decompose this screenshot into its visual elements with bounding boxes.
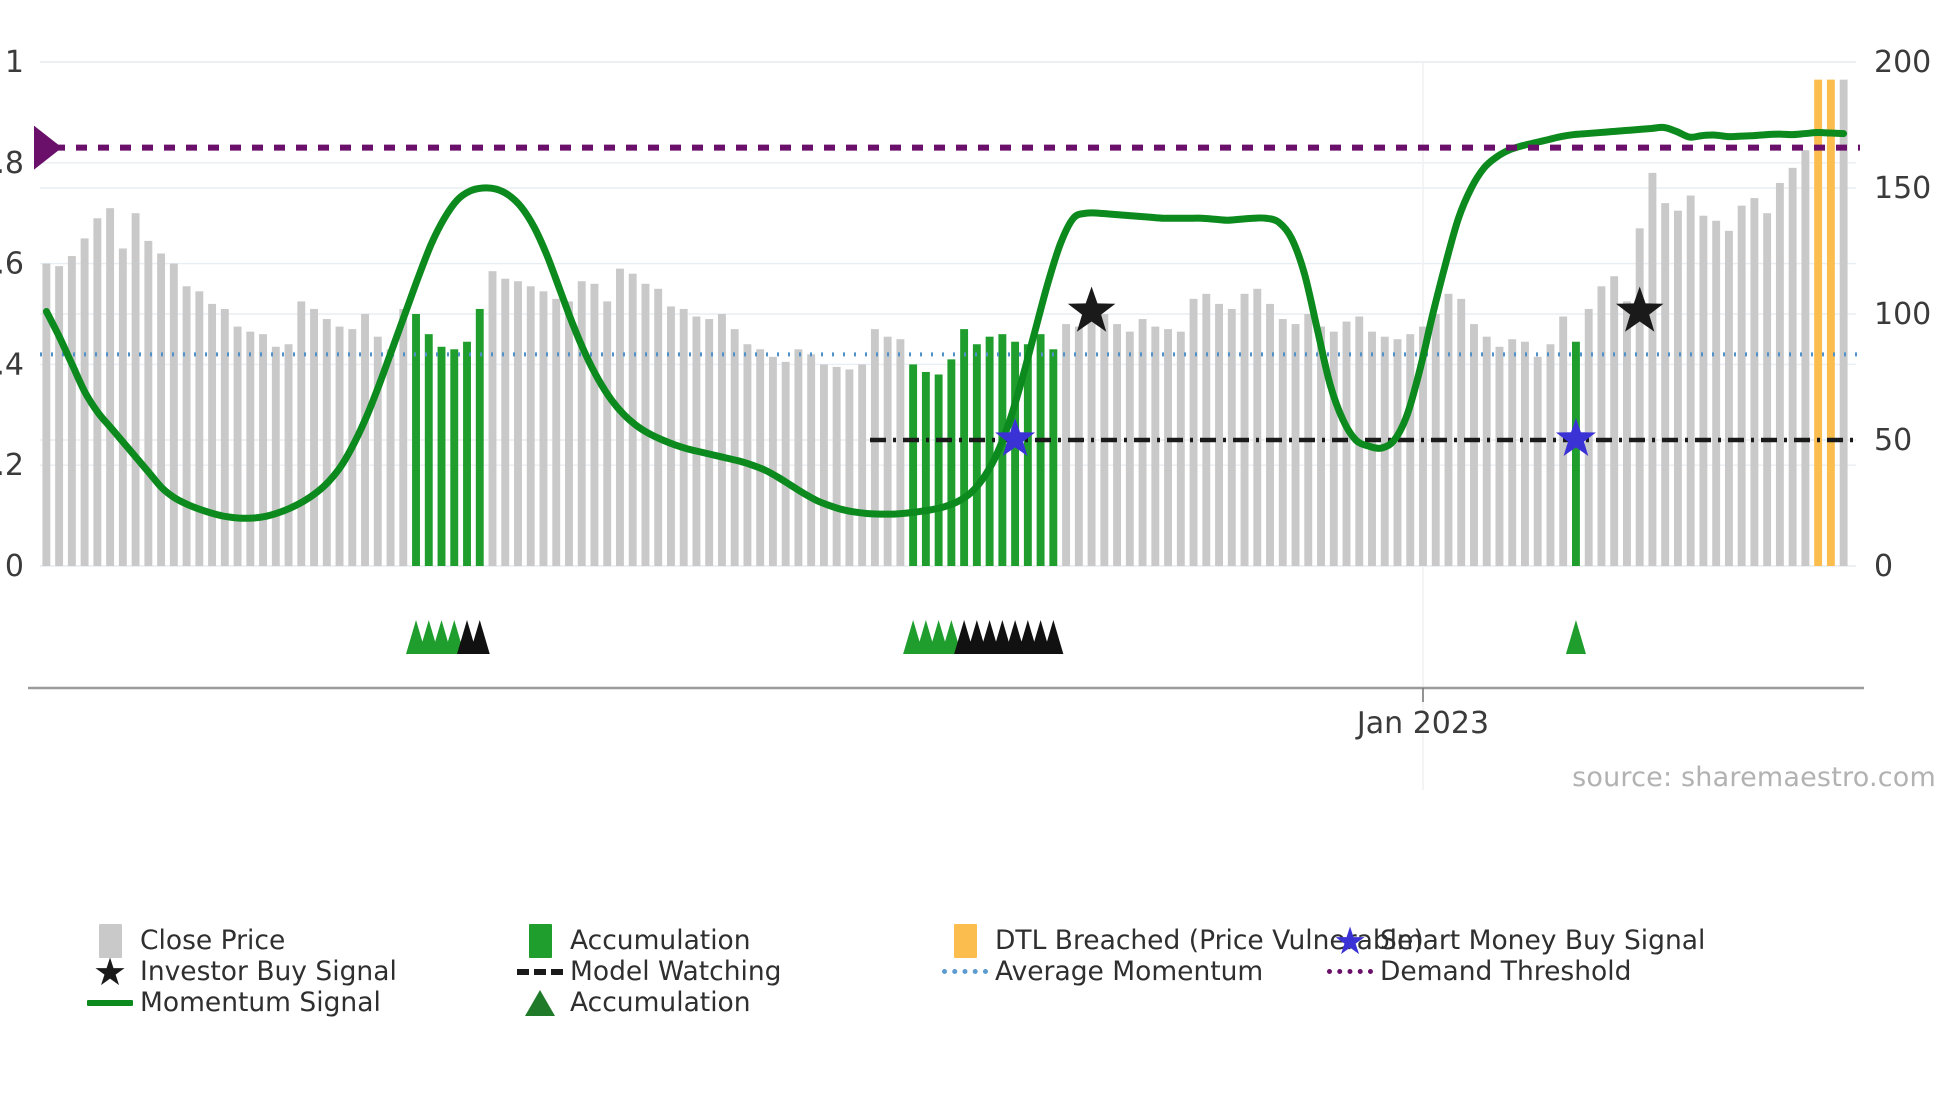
legend-item-accumulation-bar[interactable]: Accumulation (510, 925, 751, 956)
bar-close-price (1801, 150, 1809, 566)
bar-accumulation (425, 334, 433, 566)
bar-close-price (1661, 203, 1669, 566)
bar-accumulation (412, 314, 420, 566)
bar-close-price (1687, 196, 1695, 566)
bar-accumulation (1011, 342, 1019, 566)
legend-label: Accumulation (570, 987, 751, 1018)
bar-accumulation (960, 329, 968, 566)
bar-close-price (1343, 322, 1351, 566)
accumulation-triangle-marker (1043, 620, 1063, 654)
legend-item-momentum-signal[interactable]: Momentum Signal (80, 987, 381, 1018)
bar-close-price (540, 291, 548, 566)
bar-close-price (603, 301, 611, 566)
bar-close-price (782, 362, 790, 566)
bar-close-price (55, 266, 63, 566)
bar-close-price (1253, 289, 1261, 566)
bar-close-price (272, 347, 280, 566)
legend-label: Model Watching (570, 956, 781, 987)
bar-accumulation (438, 347, 446, 566)
bar-close-price (1190, 299, 1198, 566)
chart-legend: Close PriceAccumulationDTL Breached (Pri… (80, 925, 1940, 1018)
bar-close-price (489, 271, 497, 566)
bar-close-price (845, 369, 853, 566)
bar-close-price (68, 256, 76, 566)
bar-close-price (1126, 332, 1134, 566)
legend-row: ★Investor Buy SignalModel WatchingAverag… (80, 956, 1940, 987)
legend-swatch-star-icon: ★ (1333, 922, 1367, 960)
bar-dtl-breached (1814, 80, 1822, 566)
legend-swatch-line-icon (87, 1000, 133, 1006)
bar-close-price (1457, 299, 1465, 566)
bar-accumulation (909, 364, 917, 566)
bar-close-price (259, 334, 267, 566)
bar-close-price (1547, 344, 1555, 566)
legend-item-demand-threshold[interactable]: Demand Threshold (1320, 956, 1631, 987)
bar-close-price (1330, 332, 1338, 566)
legend-item-smart-money-buy-signal[interactable]: ★Smart Money Buy Signal (1320, 925, 1705, 956)
y-axis-left-tick-label: 0.2 (0, 448, 24, 483)
bar-close-price (310, 309, 318, 566)
legend-label: Demand Threshold (1380, 956, 1631, 987)
y-axis-right-tick-label: 50 (1874, 423, 1912, 458)
bar-accumulation (973, 344, 981, 566)
bar-close-price (642, 284, 650, 566)
bar-close-price (1151, 327, 1159, 566)
bar-accumulation (935, 374, 943, 566)
bar-close-price (208, 304, 216, 566)
bar-close-price (1279, 319, 1287, 566)
bar-close-price (871, 329, 879, 566)
y-axis-right-tick-label: 0 (1874, 549, 1893, 584)
bar-close-price (1725, 231, 1733, 566)
bar-close-price (1534, 357, 1542, 566)
bar-close-price (1597, 286, 1605, 566)
bar-close-price (1776, 183, 1784, 566)
legend-swatch-dotted-line-icon (1327, 969, 1373, 974)
y-axis-left-tick-label: 0.4 (0, 347, 24, 382)
bar-close-price (1623, 301, 1631, 566)
bar-close-price (1177, 332, 1185, 566)
bar-close-price (1470, 324, 1478, 566)
legend-label: Smart Money Buy Signal (1380, 925, 1705, 956)
bar-close-price (285, 344, 293, 566)
accumulation-triangle-marker (1566, 620, 1586, 654)
bar-accumulation (476, 309, 484, 566)
bar-close-price (1738, 206, 1746, 566)
y-axis-right-tick-label: 100 (1874, 297, 1931, 332)
bar-close-price (183, 286, 191, 566)
bar-close-price (1496, 347, 1504, 566)
chart-root: 00.20.40.60.81050100150200Jan 2023Jul 20… (0, 0, 1960, 1102)
bar-close-price (1228, 309, 1236, 566)
bar-close-price (170, 264, 178, 566)
bar-accumulation (1572, 342, 1580, 566)
bar-close-price (221, 309, 229, 566)
bar-close-price (1712, 221, 1720, 566)
bar-close-price (896, 339, 904, 566)
bar-close-price (1215, 304, 1223, 566)
bar-close-price (106, 208, 114, 566)
legend-item-accumulation-triangle[interactable]: Accumulation (510, 987, 751, 1018)
legend-swatch-star-icon: ★ (93, 953, 127, 991)
bar-close-price (1164, 329, 1172, 566)
bar-close-price (1062, 324, 1070, 566)
bar-close-price (1394, 339, 1402, 566)
bar-close-price (591, 284, 599, 566)
bar-close-price (692, 317, 700, 566)
bar-close-price (743, 344, 751, 566)
bar-close-price (756, 349, 764, 566)
bar-close-price (1699, 216, 1707, 566)
bar-close-price (195, 291, 203, 566)
bar-close-price (807, 354, 815, 566)
bar-close-price (1789, 168, 1797, 566)
bar-close-price (565, 301, 573, 566)
bar-close-price (132, 213, 140, 566)
bar-close-price (1241, 294, 1249, 566)
bar-close-price (654, 289, 662, 566)
bar-close-price (119, 248, 127, 566)
bar-close-price (336, 327, 344, 566)
bar-close-price (718, 314, 726, 566)
bar-close-price (769, 357, 777, 566)
bar-accumulation (463, 342, 471, 566)
bar-close-price (1139, 319, 1147, 566)
bar-close-price (527, 286, 535, 566)
bar-close-price (387, 349, 395, 566)
legend-item-average-momentum[interactable]: Average Momentum (935, 956, 1263, 987)
legend-label: Average Momentum (995, 956, 1263, 987)
bar-close-price (1292, 324, 1300, 566)
bar-close-price (1763, 213, 1771, 566)
bar-close-price (858, 364, 866, 566)
bar-close-price (1674, 211, 1682, 566)
bar-close-price (234, 327, 242, 566)
bar-close-price (1750, 198, 1758, 566)
bar-close-price (1202, 294, 1210, 566)
bar-close-price (144, 241, 152, 566)
y-axis-left-tick-label: 0.6 (0, 247, 24, 282)
legend-label: Close Price (140, 925, 285, 956)
legend-row: Close PriceAccumulationDTL Breached (Pri… (80, 925, 1940, 956)
y-axis-right-tick-label: 200 (1874, 45, 1931, 80)
bar-accumulation (1037, 334, 1045, 566)
bar-close-price (1648, 173, 1656, 566)
accumulation-triangle-marker (470, 620, 490, 654)
bar-close-price (578, 281, 586, 566)
bar-close-price (501, 279, 509, 566)
legend-swatch-dashed-line-icon (517, 969, 563, 975)
bar-close-price (246, 332, 254, 566)
bar-close-price (157, 254, 165, 566)
x-axis-tick-label: Jan 2023 (1355, 706, 1489, 741)
bar-close-price (361, 314, 369, 566)
bar-close-price (1483, 337, 1491, 566)
bar-close-price (1610, 276, 1618, 566)
y-axis-left-tick-label: 0 (5, 549, 24, 584)
bar-close-price (731, 329, 739, 566)
bar-accumulation (922, 372, 930, 566)
legend-swatch-dotted-line-icon (942, 969, 988, 974)
bar-close-price (1445, 294, 1453, 566)
bar-close-price (514, 281, 522, 566)
source-attribution: source: sharemaestro.com (1572, 762, 1936, 793)
bar-accumulation (1049, 349, 1057, 566)
bar-close-price (1521, 342, 1529, 566)
bar-close-price (794, 349, 802, 566)
legend-label: Investor Buy Signal (140, 956, 397, 987)
bar-close-price (399, 309, 407, 566)
bar-close-price (1406, 334, 1414, 566)
legend-row: Momentum SignalAccumulation (80, 987, 1940, 1018)
bar-close-price (1075, 327, 1083, 566)
bar-close-price (667, 306, 675, 566)
bar-close-price (552, 299, 560, 566)
bar-accumulation (947, 359, 955, 566)
legend-label: Accumulation (570, 925, 751, 956)
y-axis-left-tick-label: 0.8 (0, 146, 24, 181)
bar-close-price (1636, 228, 1644, 566)
legend-item-investor-buy-signal[interactable]: ★Investor Buy Signal (80, 956, 397, 987)
legend-label: Momentum Signal (140, 987, 381, 1018)
bar-close-price (680, 309, 688, 566)
bar-close-price (820, 364, 828, 566)
bar-close-price (93, 218, 101, 566)
legend-swatch-triangle-icon (525, 990, 555, 1016)
bar-close-price (297, 301, 305, 566)
bar-dtl-breached (1827, 80, 1835, 566)
bar-close-price (1840, 80, 1848, 566)
bar-close-price (884, 337, 892, 566)
y-axis-right-tick-label: 150 (1874, 171, 1931, 206)
legend-item-model-watching[interactable]: Model Watching (510, 956, 781, 987)
legend-swatch-bar-icon (529, 924, 552, 958)
bar-accumulation (450, 349, 458, 566)
bar-close-price (1508, 339, 1516, 566)
bar-close-price (1113, 324, 1121, 566)
bar-accumulation (986, 337, 994, 566)
y-axis-left-tick-label: 1 (5, 45, 24, 80)
bar-close-price (1266, 304, 1274, 566)
legend-swatch-bar-icon (954, 924, 977, 958)
bar-close-price (833, 367, 841, 566)
